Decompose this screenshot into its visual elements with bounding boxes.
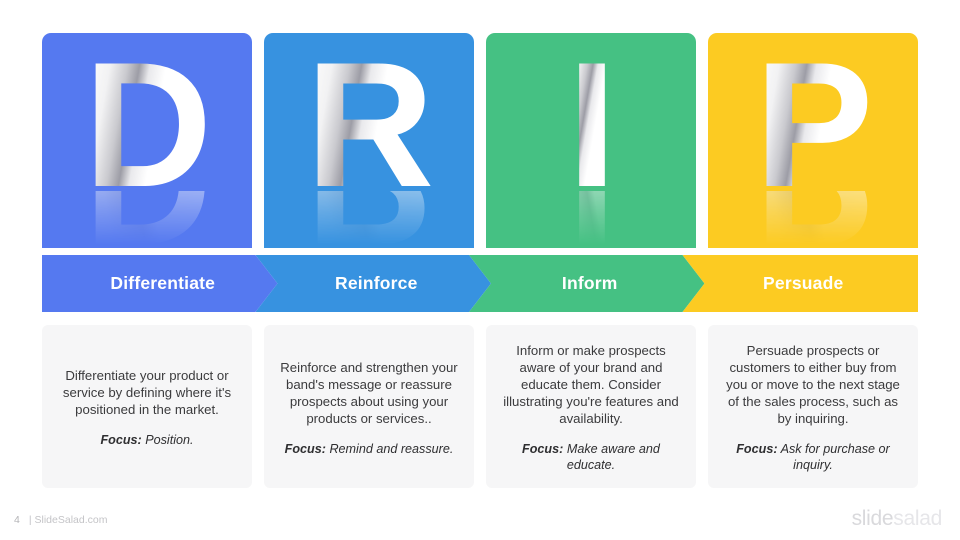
letter-panel-p[interactable]: P P bbox=[708, 33, 918, 248]
focus-line-persuade: Focus: Ask for purchase or inquiry. bbox=[724, 441, 902, 473]
letter-glyph-wrap-d: D bbox=[42, 59, 252, 191]
letter-panel-d[interactable]: D D bbox=[42, 33, 252, 248]
letter-panel-r[interactable]: R R bbox=[264, 33, 474, 248]
letter-panel-i[interactable]: I I bbox=[486, 33, 696, 248]
letter-reflection-glyph-i: I bbox=[567, 191, 614, 248]
focus-value-differentiate: Position. bbox=[145, 433, 193, 447]
chevron-label-reinforce: Reinforce bbox=[329, 273, 418, 294]
page-number: 4 bbox=[14, 514, 20, 526]
footer-site-name: SlideSalad.com bbox=[35, 514, 108, 526]
chevron-band: Differentiate Reinforce Inform Persuade bbox=[42, 255, 918, 312]
chevron-step-persuade[interactable]: Persuade bbox=[683, 255, 919, 312]
focus-line-differentiate: Focus: Position. bbox=[100, 432, 193, 448]
letter-reflection-i: I bbox=[486, 191, 696, 248]
letter-reflection-glyph-d: D bbox=[84, 191, 211, 248]
letter-glyph-wrap-p: P bbox=[708, 59, 918, 191]
letter-reflection-p: P bbox=[708, 191, 918, 248]
chevron-step-differentiate[interactable]: Differentiate bbox=[42, 255, 278, 312]
focus-value-reinforce: Remind and reassure. bbox=[329, 442, 453, 456]
slide-canvas: D D R R I I P bbox=[0, 0, 960, 540]
slide-footer: 4 | SlideSalad.com slidesalad bbox=[0, 496, 960, 540]
focus-line-inform: Focus: Make aware and educate. bbox=[502, 441, 680, 473]
description-text-inform: Inform or make prospects aware of your b… bbox=[502, 342, 680, 427]
focus-key-persuade: Focus: bbox=[736, 442, 777, 456]
letter-reflection-d: D bbox=[42, 191, 252, 248]
letter-glyph-d: D bbox=[84, 59, 211, 191]
chevron-label-differentiate: Differentiate bbox=[104, 273, 215, 294]
letter-reflection-r: R bbox=[264, 191, 474, 248]
letter-reflection-glyph-r: R bbox=[306, 191, 433, 248]
slidesalad-logo: slidesalad bbox=[852, 507, 942, 531]
description-text-reinforce: Reinforce and strengthen your band's mes… bbox=[280, 359, 458, 427]
chevron-label-inform: Inform bbox=[556, 273, 618, 294]
footer-separator: | bbox=[29, 514, 32, 526]
focus-value-inform: Make aware and educate. bbox=[567, 442, 660, 472]
focus-key-differentiate: Focus: bbox=[100, 433, 141, 447]
focus-key-inform: Focus: bbox=[522, 442, 563, 456]
footer-left-group: 4 | SlideSalad.com bbox=[14, 514, 107, 526]
description-card-persuade[interactable]: Persuade prospects or customers to eithe… bbox=[708, 325, 918, 488]
letter-glyph-wrap-i: I bbox=[486, 59, 696, 191]
letter-glyph-r: R bbox=[306, 59, 433, 191]
description-card-inform[interactable]: Inform or make prospects aware of your b… bbox=[486, 325, 696, 488]
letter-reflection-glyph-p: P bbox=[755, 191, 872, 248]
description-card-reinforce[interactable]: Reinforce and strengthen your band's mes… bbox=[264, 325, 474, 488]
letter-glyph-wrap-r: R bbox=[264, 59, 474, 191]
logo-text-salad: salad bbox=[893, 507, 942, 530]
letter-glyph-p: P bbox=[755, 59, 872, 191]
description-text-differentiate: Differentiate your product or service by… bbox=[58, 367, 236, 418]
chevron-step-reinforce[interactable]: Reinforce bbox=[256, 255, 492, 312]
footer-site-label: | SlideSalad.com bbox=[29, 514, 108, 526]
chevron-label-persuade: Persuade bbox=[757, 273, 843, 294]
chevron-step-inform[interactable]: Inform bbox=[469, 255, 705, 312]
focus-line-reinforce: Focus: Remind and reassure. bbox=[285, 441, 454, 457]
letter-panels-row: D D R R I I P bbox=[42, 33, 918, 248]
focus-key-reinforce: Focus: bbox=[285, 442, 326, 456]
description-text-persuade: Persuade prospects or customers to eithe… bbox=[724, 342, 902, 427]
letter-glyph-i: I bbox=[567, 59, 614, 191]
logo-text-slide: slide bbox=[852, 507, 894, 530]
description-card-differentiate[interactable]: Differentiate your product or service by… bbox=[42, 325, 252, 488]
description-cards-row: Differentiate your product or service by… bbox=[42, 325, 918, 488]
focus-value-persuade: Ask for purchase or inquiry. bbox=[781, 442, 890, 472]
